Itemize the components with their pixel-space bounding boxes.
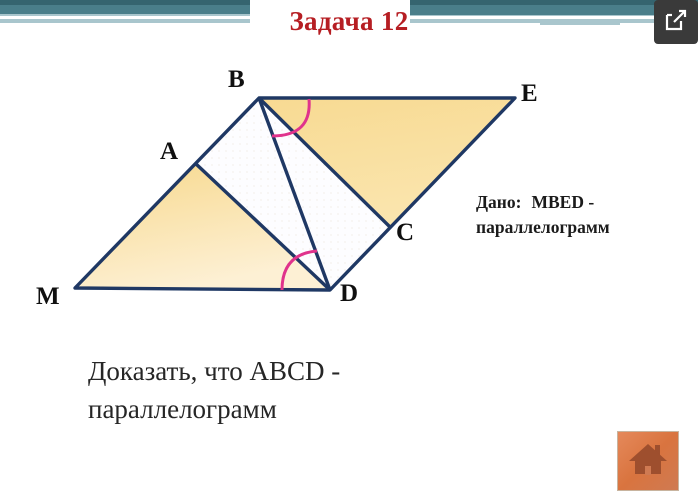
vertex-label-M: M — [36, 283, 60, 311]
vertex-label-D: D — [340, 280, 358, 308]
vertex-label-A: A — [160, 138, 178, 166]
given-statement: Дано:MBED - параллелограмм — [476, 190, 698, 241]
vertex-label-E: E — [521, 80, 538, 108]
edit-button[interactable] — [654, 0, 698, 44]
home-icon — [627, 439, 669, 484]
given-subject: MBED - — [531, 192, 594, 212]
given-line-2: параллелограмм — [476, 215, 698, 240]
edit-in-box-icon — [663, 7, 689, 38]
vertex-label-C: C — [396, 219, 414, 247]
vertex-label-B: B — [228, 66, 245, 94]
slide-canvas: Задача 12 — [0, 0, 698, 500]
given-label: Дано: — [476, 192, 521, 212]
home-button[interactable] — [617, 431, 679, 491]
page-title: Задача 12 — [0, 6, 698, 37]
prove-statement: Доказать, что ABCD - параллелограмм — [88, 352, 508, 429]
prove-line-1: Доказать, что ABCD - — [88, 352, 508, 390]
given-line-1: Дано:MBED - — [476, 190, 698, 215]
prove-line-2: параллелограмм — [88, 390, 508, 428]
